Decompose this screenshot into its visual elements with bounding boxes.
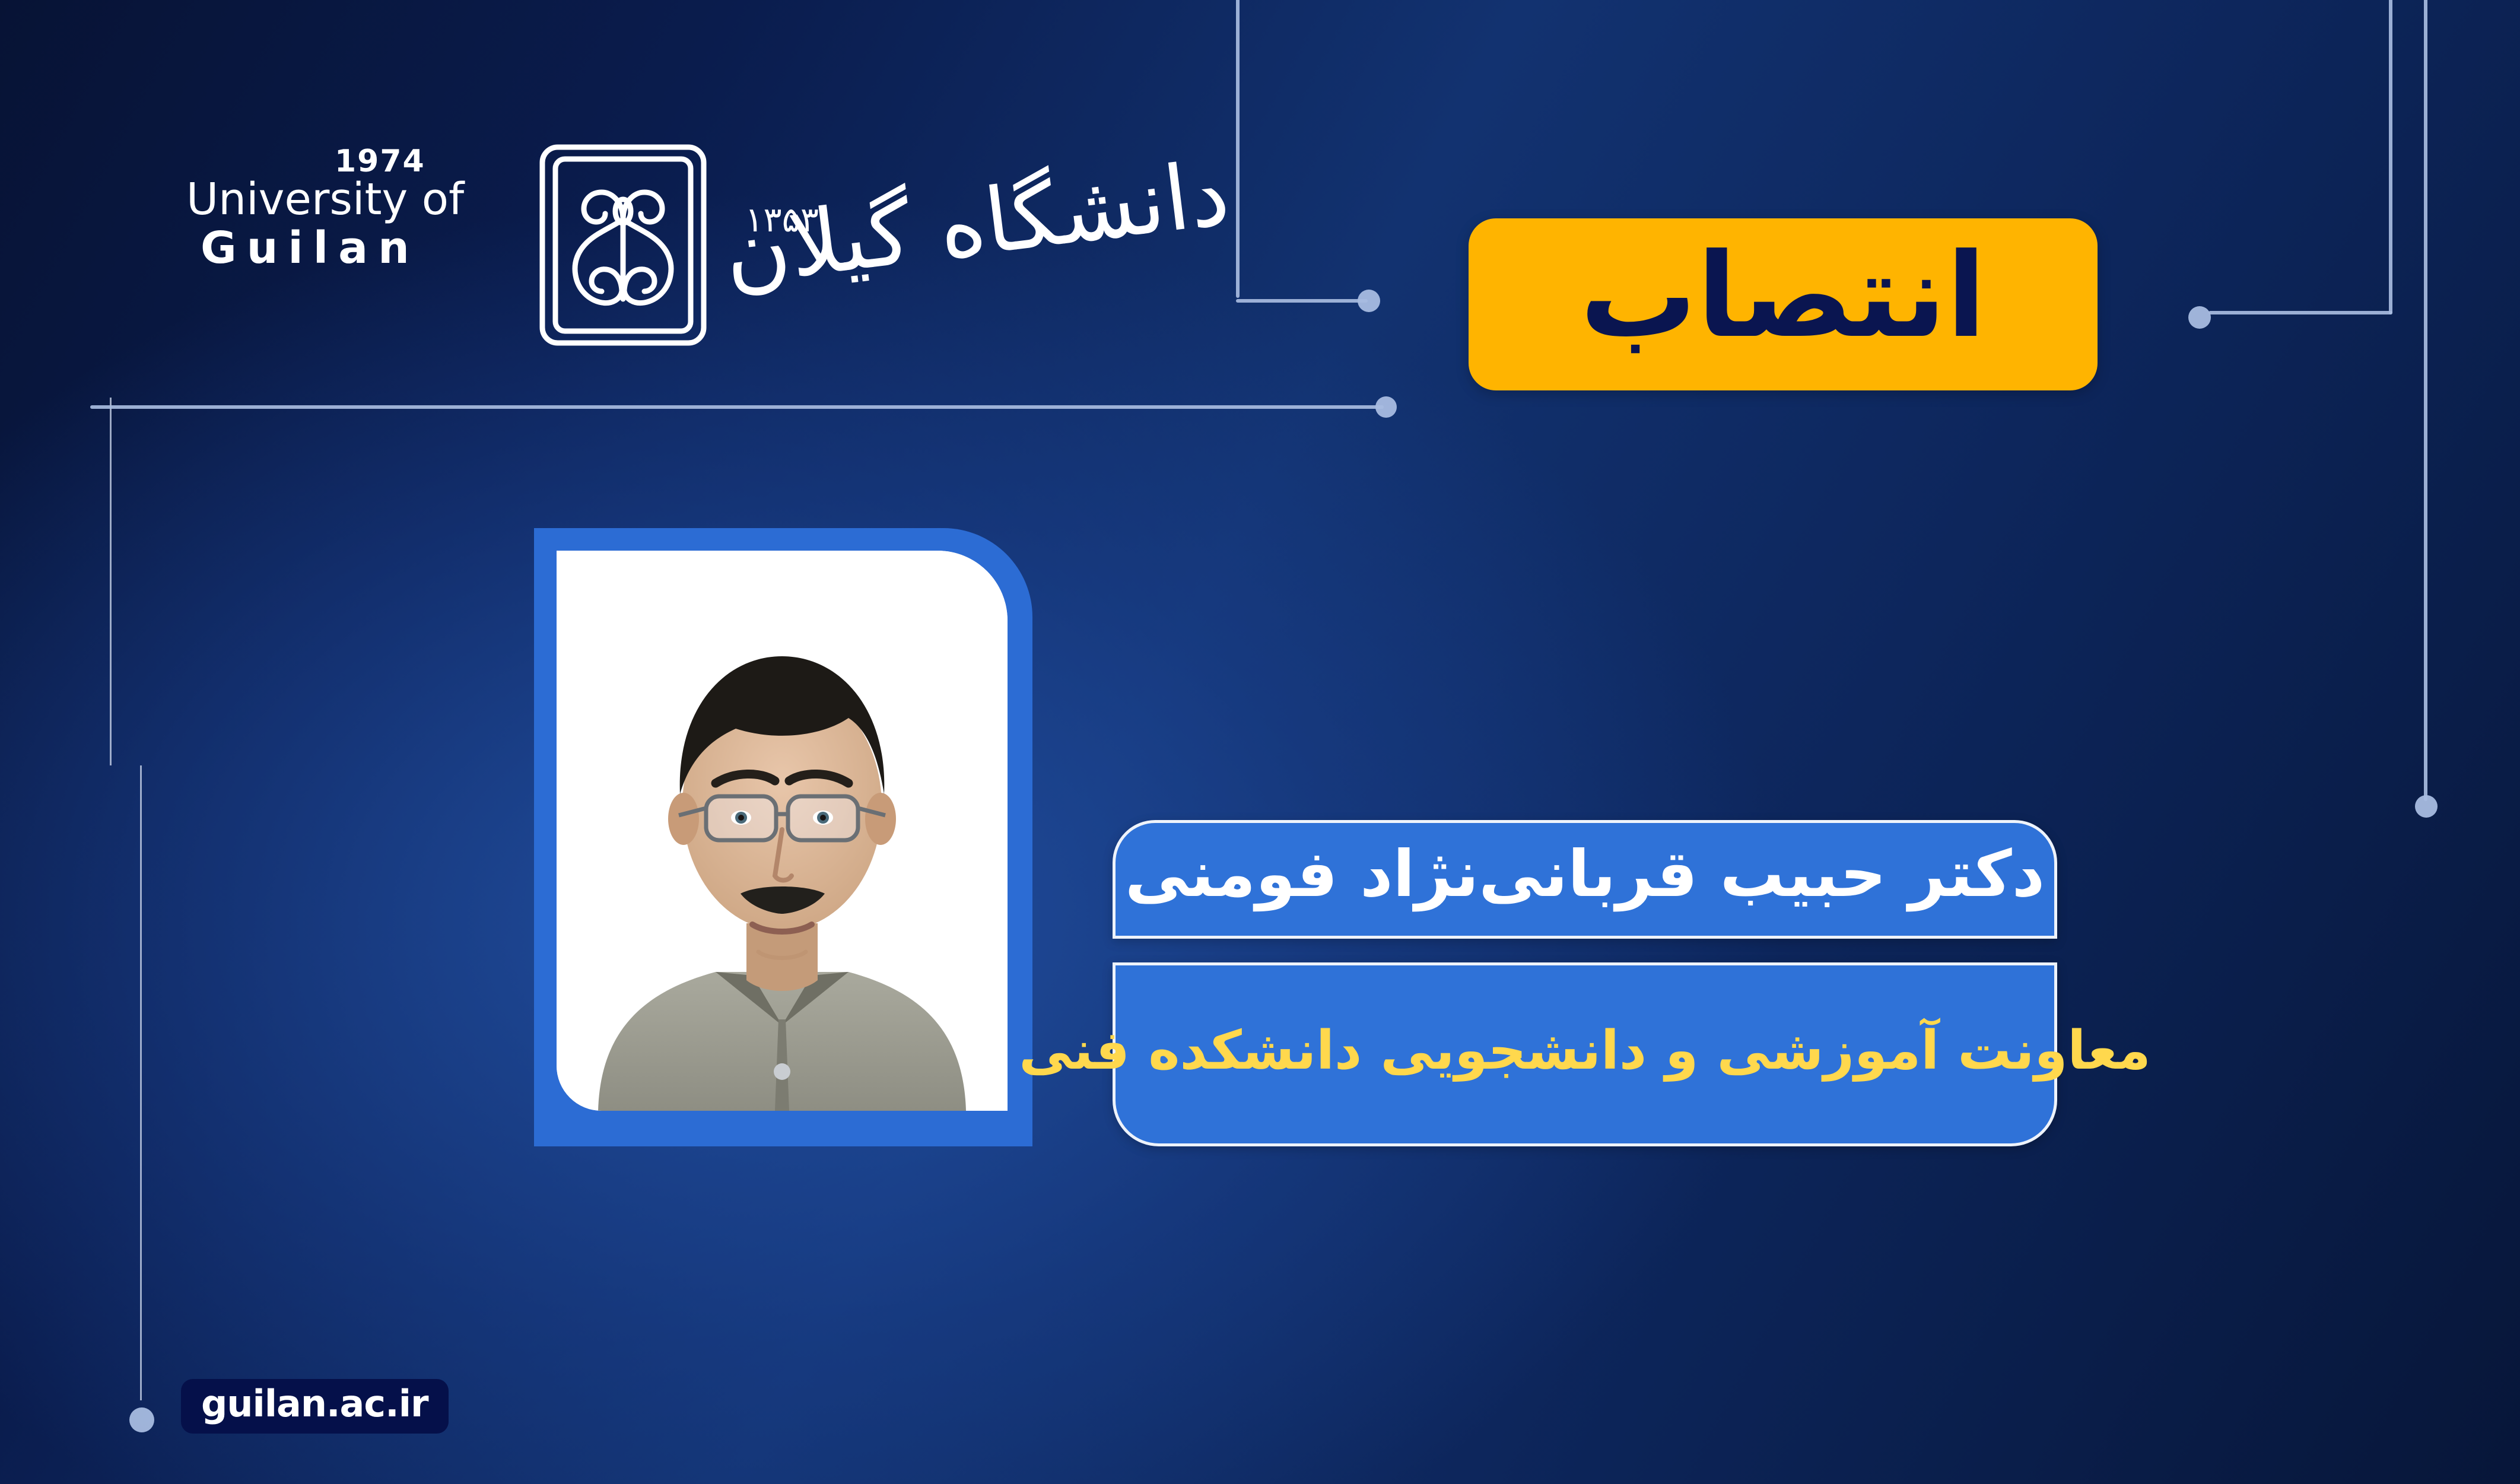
decorative-horizontal-line-upper xyxy=(1236,299,1368,303)
logo-latin-name: University of Guilan xyxy=(186,177,519,274)
decorative-vertical-line-right-long xyxy=(2424,0,2427,801)
appointment-headline-badge: انتصاب xyxy=(1469,218,2098,390)
decorative-horizontal-line-right xyxy=(2208,311,2392,314)
portrait-frame xyxy=(534,528,1032,1146)
decorative-vertical-line-right-corner xyxy=(2389,0,2392,314)
logo-year-persian: ۱۳۵۳ xyxy=(745,199,819,240)
guilan-university-emblem-icon xyxy=(534,141,712,349)
logo-persian-block: دانشگاه گیلان ۱۳۵۳ xyxy=(706,142,1228,356)
decorative-dot-right-rule xyxy=(2188,306,2211,329)
decorative-vertical-hairline-bottom-left xyxy=(140,765,142,1400)
website-url-pill[interactable]: guilan.ac.ir xyxy=(181,1379,449,1434)
appointment-headline-label: انتصاب xyxy=(1580,238,1986,354)
person-position-label: معاونت آموزشی و دانشجویی دانشکده فنی xyxy=(1019,1024,2150,1078)
person-name-banner: دکتر حبیب قربانی‌نژاد فومنی xyxy=(1113,820,2057,939)
decorative-dot-upper-bracket xyxy=(1358,290,1380,312)
decorative-dot-left-rule xyxy=(1375,396,1397,418)
website-url-label: guilan.ac.ir xyxy=(201,1386,428,1422)
person-position-banner: معاونت آموزشی و دانشجویی دانشکده فنی xyxy=(1113,962,2057,1146)
university-logo: 1974 University of Guilan xyxy=(178,148,1246,362)
decorative-vertical-hairline-left xyxy=(110,398,112,765)
logo-latin-line-1: University of xyxy=(186,177,519,223)
appointment-poster: 1974 University of Guilan xyxy=(0,0,2520,1484)
person-name-label: دکتر حبیب قربانی‌نژاد فومنی xyxy=(1125,843,2045,907)
decorative-dot-right-long xyxy=(2415,795,2438,818)
portrait-photo xyxy=(557,551,1008,1111)
decorative-horizontal-line-left xyxy=(90,405,1384,409)
decorative-dot-bottom-left xyxy=(129,1407,154,1432)
logo-latin-line-2: Guilan xyxy=(186,223,519,274)
